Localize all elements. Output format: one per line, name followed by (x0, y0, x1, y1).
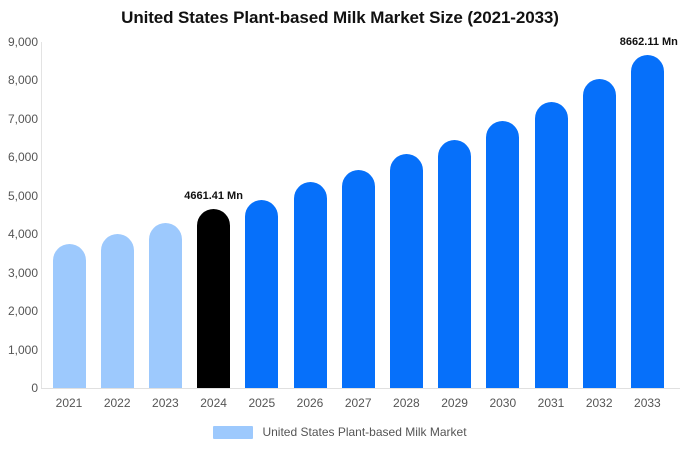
bar-2030[interactable] (486, 121, 519, 388)
bar-2026[interactable] (294, 182, 327, 388)
x-axis-tick-label-2032: 2032 (574, 396, 624, 410)
bar-2032[interactable] (583, 79, 616, 388)
bar-group (101, 234, 134, 388)
x-axis-tick-label-2025: 2025 (237, 396, 287, 410)
bar-group (342, 170, 375, 388)
legend-label: United States Plant-based Milk Market (262, 425, 466, 439)
y-axis-tick-label: 4,000 (2, 227, 38, 241)
plot-area: 4661.41 Mn8662.11 Mn (41, 42, 680, 388)
chart-title: United States Plant-based Milk Market Si… (0, 8, 680, 28)
legend-swatch-icon (213, 426, 253, 439)
y-axis-tick-label: 5,000 (2, 189, 38, 203)
bar-2031[interactable] (535, 102, 568, 388)
bar-group (438, 140, 471, 388)
x-axis-tick-labels: 2021202220232024202520262027202820292030… (41, 396, 680, 416)
x-axis-tick-label-2026: 2026 (285, 396, 335, 410)
bar-2027[interactable] (342, 170, 375, 388)
y-axis-tick-label: 1,000 (2, 343, 38, 357)
x-axis-tick-label-2030: 2030 (478, 396, 528, 410)
y-axis-tick-label: 7,000 (2, 112, 38, 126)
bar-group (149, 223, 182, 388)
y-axis-tick-labels: 9,0008,0007,0006,0005,0004,0003,0002,000… (0, 0, 38, 450)
y-axis-tick-label: 8,000 (2, 73, 38, 87)
bar-group: 4661.41 Mn (197, 209, 230, 388)
x-axis-tick-label-2022: 2022 (92, 396, 142, 410)
bar-2029[interactable] (438, 140, 471, 388)
bar-group (390, 154, 423, 389)
bar-group (294, 182, 327, 388)
y-axis-tick-label: 0 (2, 381, 38, 395)
bar-group (245, 200, 278, 388)
x-axis-tick-label-2028: 2028 (381, 396, 431, 410)
bar-2028[interactable] (390, 154, 423, 389)
bar-2025[interactable] (245, 200, 278, 388)
bar-group (535, 102, 568, 388)
bar-chart: United States Plant-based Milk Market Si… (0, 0, 680, 450)
x-axis-tick-label-2024: 2024 (189, 396, 239, 410)
x-axis-tick-label-2029: 2029 (430, 396, 480, 410)
bar-value-label-2033: 8662.11 Mn (620, 36, 678, 48)
x-axis-tick-label-2033: 2033 (622, 396, 672, 410)
x-axis-tick-label-2021: 2021 (44, 396, 94, 410)
bar-group (53, 244, 86, 388)
bar-group (486, 121, 519, 388)
x-axis-line (41, 388, 680, 389)
y-axis-tick-label: 2,000 (2, 304, 38, 318)
bar-2021[interactable] (53, 244, 86, 388)
bar-group: 8662.11 Mn (631, 55, 664, 388)
x-axis-tick-label-2031: 2031 (526, 396, 576, 410)
x-axis-tick-label-2023: 2023 (140, 396, 190, 410)
bar-group (583, 79, 616, 388)
bar-2024[interactable] (197, 209, 230, 388)
bar-value-label-2024: 4661.41 Mn (184, 190, 243, 202)
bar-2022[interactable] (101, 234, 134, 388)
chart-legend: United States Plant-based Milk Market (0, 425, 680, 439)
y-axis-tick-label: 9,000 (2, 35, 38, 49)
bar-2023[interactable] (149, 223, 182, 388)
y-axis-tick-label: 6,000 (2, 150, 38, 164)
y-axis-tick-label: 3,000 (2, 266, 38, 280)
bar-2033[interactable] (631, 55, 664, 388)
x-axis-tick-label-2027: 2027 (333, 396, 383, 410)
